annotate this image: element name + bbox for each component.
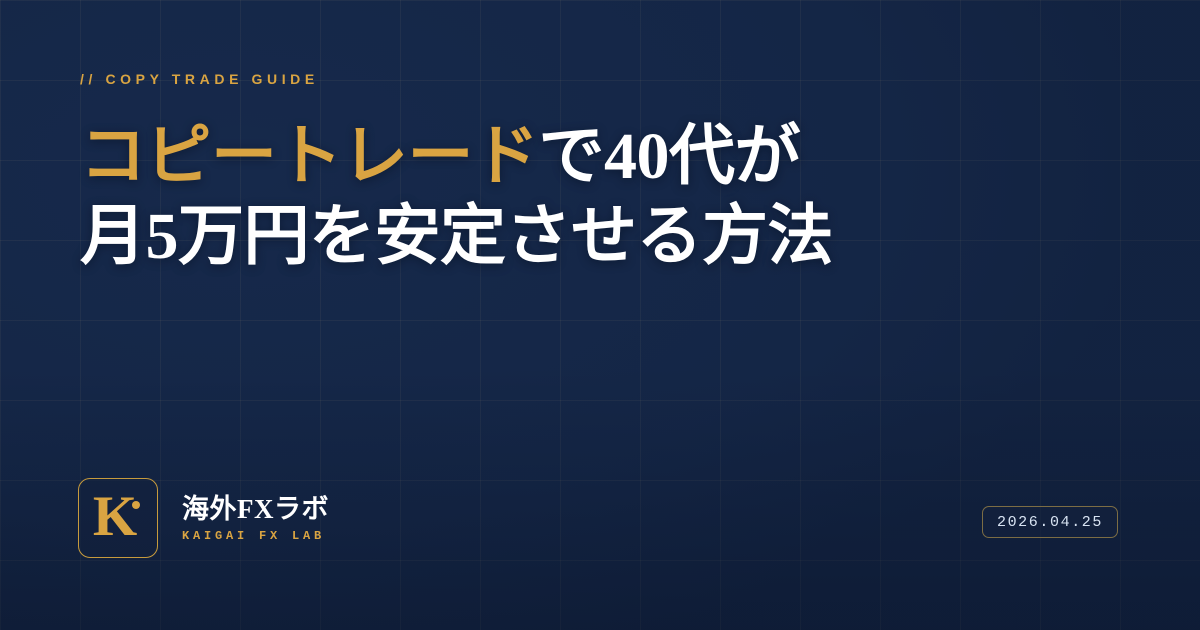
brand-name: 海外FXラボ (182, 494, 329, 524)
brand-lockup: K 海外FXラボ KAIGAI FX LAB (78, 478, 329, 558)
k-monogram-icon: K (93, 488, 137, 545)
og-card: // COPY TRADE GUIDE コピートレードで40代が 月5万円を安定… (0, 0, 1200, 630)
headline-line-2: 月5万円を安定させる方法 (80, 197, 1080, 277)
logo-dot-icon (132, 501, 140, 509)
brand-romaji: KAIGAI FX LAB (182, 529, 329, 543)
brand-text: 海外FXラボ KAIGAI FX LAB (182, 494, 329, 543)
date-badge: 2026.04.25 (982, 506, 1118, 538)
page-title: コピートレードで40代が 月5万円を安定させる方法 (80, 117, 1080, 277)
logo-mark: K (78, 478, 158, 558)
card-content: // COPY TRADE GUIDE コピートレードで40代が 月5万円を安定… (0, 0, 1200, 630)
headline-highlight: コピートレード (80, 120, 539, 193)
headline-line-1: コピートレードで40代が (80, 117, 1080, 197)
eyebrow-label: // COPY TRADE GUIDE (80, 71, 319, 87)
headline-line-1-rest: で40代が (539, 120, 801, 193)
